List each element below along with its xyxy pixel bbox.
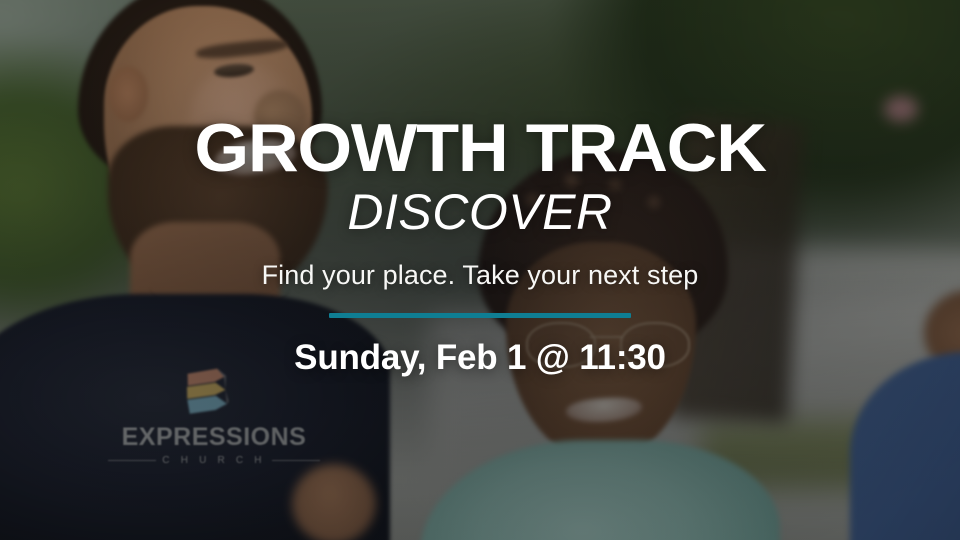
event-promo-slide: EXPRESSIONS C H U R C H: [0, 0, 960, 540]
text-overlay: GROWTH TRACK DISCOVER Find your place. T…: [0, 0, 960, 540]
event-datetime: Sunday, Feb 1 @ 11:30: [294, 338, 666, 378]
headline-title: GROWTH TRACK: [194, 116, 766, 181]
accent-divider: [329, 313, 631, 318]
tagline-text: Find your place. Take your next step: [262, 260, 699, 291]
subheadline-title: DISCOVER: [347, 187, 612, 238]
